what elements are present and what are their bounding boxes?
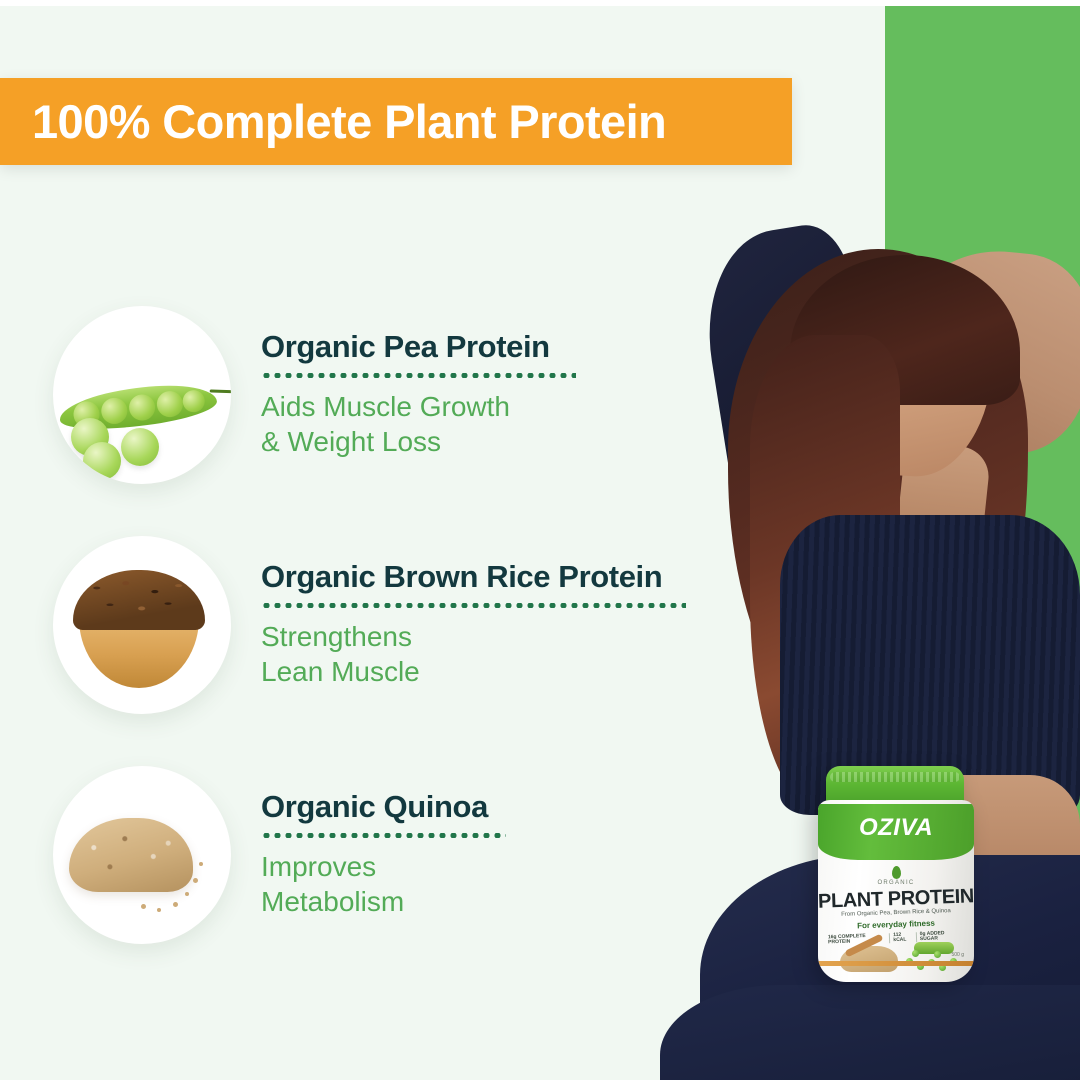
quinoa-pile-shape	[69, 818, 193, 892]
feature-row-pea-protein: Organic Pea Protein Aids Muscle Growth &…	[0, 280, 760, 510]
net-weight-label: 500 g	[951, 952, 964, 958]
feature-text-pea: Organic Pea Protein Aids Muscle Growth &…	[261, 331, 760, 459]
dotted-divider	[261, 603, 686, 608]
model-jeans-lower	[660, 985, 1080, 1080]
product-infographic-poster: 100% Complete Plant Protein	[0, 0, 1080, 1080]
feature-row-quinoa: Organic Quinoa Improves Metabolism	[0, 740, 760, 970]
feature-title: Organic Quinoa	[261, 791, 760, 824]
feature-text-rice: Organic Brown Rice Protein Strengthens L…	[261, 561, 760, 689]
thumb-wrap-pea	[53, 306, 231, 484]
dotted-divider	[261, 373, 576, 378]
feature-text-quinoa: Organic Quinoa Improves Metabolism	[261, 791, 760, 919]
feature-benefit: Improves Metabolism	[261, 849, 760, 919]
product-jar: OZIVA ORGANIC PLANT PROTEIN From Organic…	[818, 766, 974, 982]
quinoa-grain-image	[53, 766, 231, 944]
dotted-divider	[261, 833, 506, 838]
thumb-wrap-quinoa	[53, 766, 231, 944]
jar-body: OZIVA ORGANIC PLANT PROTEIN From Organic…	[818, 800, 974, 982]
pea-pod-image	[53, 306, 231, 484]
badge-calories: 112 kCAL	[889, 932, 916, 943]
thumb-wrap-rice	[53, 536, 231, 714]
feature-title: Organic Pea Protein	[261, 331, 760, 364]
feature-title: Organic Brown Rice Protein	[261, 561, 760, 594]
jar-orange-stripe	[818, 961, 974, 966]
wooden-bowl-shape	[73, 570, 205, 688]
page-title: 100% Complete Plant Protein	[0, 98, 666, 145]
header-banner: 100% Complete Plant Protein	[0, 78, 792, 165]
badge-sugar: 0g ADDED SUGAR	[916, 931, 965, 943]
brown-rice-bowl-image	[53, 536, 231, 714]
feature-row-brown-rice-protein: Organic Brown Rice Protein Strengthens L…	[0, 510, 760, 740]
leaf-icon	[892, 866, 901, 879]
feature-benefit: Aids Muscle Growth & Weight Loss	[261, 389, 760, 459]
feature-benefit: Strengthens Lean Muscle	[261, 619, 760, 689]
product-fitness-line: For everyday fitness	[818, 917, 974, 931]
brand-logo: OZIVA	[818, 814, 974, 842]
feature-list: Organic Pea Protein Aids Muscle Growth &…	[0, 280, 760, 970]
top-white-strip	[0, 0, 1080, 6]
